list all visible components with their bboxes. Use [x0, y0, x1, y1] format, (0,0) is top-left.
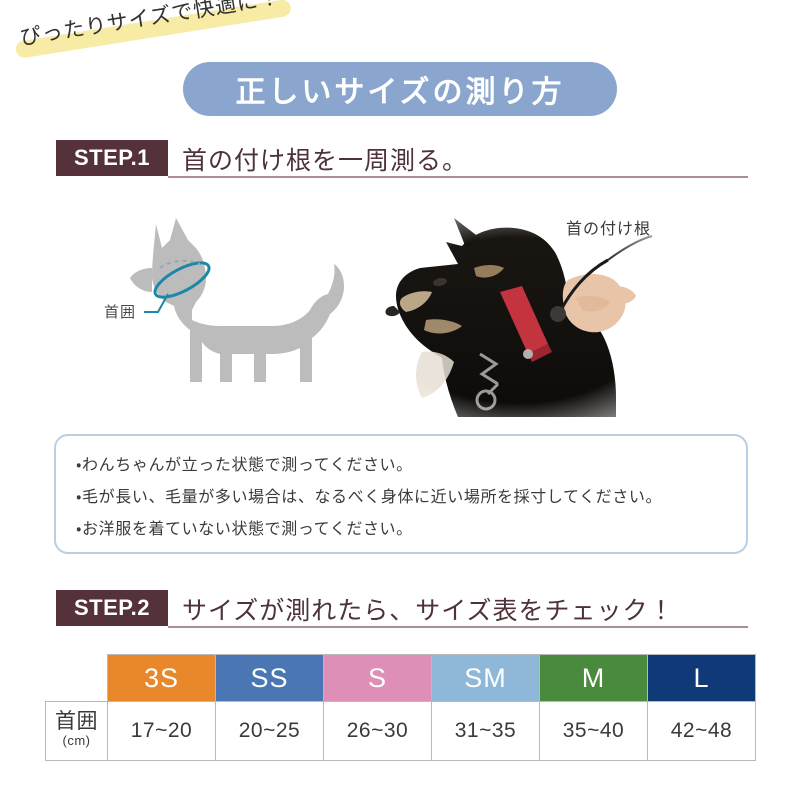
size-chart-table: 3S SS S SM M L 首囲 (cm) 17~20 20~25 26~30… — [45, 654, 756, 761]
photo-annotation-label: 首の付け根 — [566, 215, 651, 239]
dog-silhouette-svg — [96, 206, 366, 412]
tagline-text: ぴったりサイズで快適に！ — [18, 0, 283, 52]
size-value-cell: 26~30 — [324, 702, 432, 761]
step-2-badge: STEP.2 — [56, 590, 168, 626]
neck-circumference-label: 首囲 — [104, 301, 136, 322]
page-title: 正しいサイズの測り方 — [183, 62, 617, 116]
table-row: 首囲 (cm) 17~20 20~25 26~30 31~35 35~40 42… — [46, 702, 756, 761]
dog-photo: 首の付け根 — [362, 202, 708, 417]
size-header-cell: 3S — [108, 655, 216, 702]
size-value-cell: 31~35 — [432, 702, 540, 761]
measuring-notes-box: ・わんちゃんが立った状態で測ってください。 ・毛が長い、毛量が多い場合は、なるべ… — [54, 434, 748, 554]
size-header-cell: S — [324, 655, 432, 702]
note-item: ・わんちゃんが立った状態で測ってください。 — [76, 450, 726, 482]
note-item: ・お洋服を着ていない状態で測ってください。 — [76, 514, 726, 546]
page-title-text: 正しいサイズの測り方 — [235, 67, 564, 111]
table-corner-cell — [46, 655, 108, 702]
step-1-title: 首の付け根を一周測る。 — [182, 141, 468, 177]
size-header-cell: M — [540, 655, 648, 702]
table-row-label: 首囲 (cm) — [46, 702, 108, 761]
step-1-rule — [168, 176, 748, 178]
table-header-row: 3S SS S SM M L — [46, 655, 756, 702]
dog-photo-svg — [362, 202, 708, 417]
step-2-title: サイズが測れたら、サイズ表をチェック！ — [182, 591, 675, 627]
dog-silhouette-illustration: 首囲 — [96, 206, 366, 412]
size-value-cell: 42~48 — [648, 702, 756, 761]
row-label-unit: (cm) — [50, 731, 103, 750]
note-item: ・毛が長い、毛量が多い場合は、なるべく身体に近い場所を採寸してください。 — [76, 482, 726, 514]
step-1-badge: STEP.1 — [56, 140, 168, 176]
step-2-header: STEP.2 サイズが測れたら、サイズ表をチェック！ — [56, 590, 748, 632]
step-1-header: STEP.1 首の付け根を一周測る。 — [56, 140, 748, 182]
size-value-cell: 35~40 — [540, 702, 648, 761]
size-header-cell: L — [648, 655, 756, 702]
size-header-cell: SM — [432, 655, 540, 702]
size-value-cell: 17~20 — [108, 702, 216, 761]
size-header-cell: SS — [216, 655, 324, 702]
size-value-cell: 20~25 — [216, 702, 324, 761]
row-label-text: 首囲 — [55, 710, 98, 733]
step-2-rule — [168, 626, 748, 628]
